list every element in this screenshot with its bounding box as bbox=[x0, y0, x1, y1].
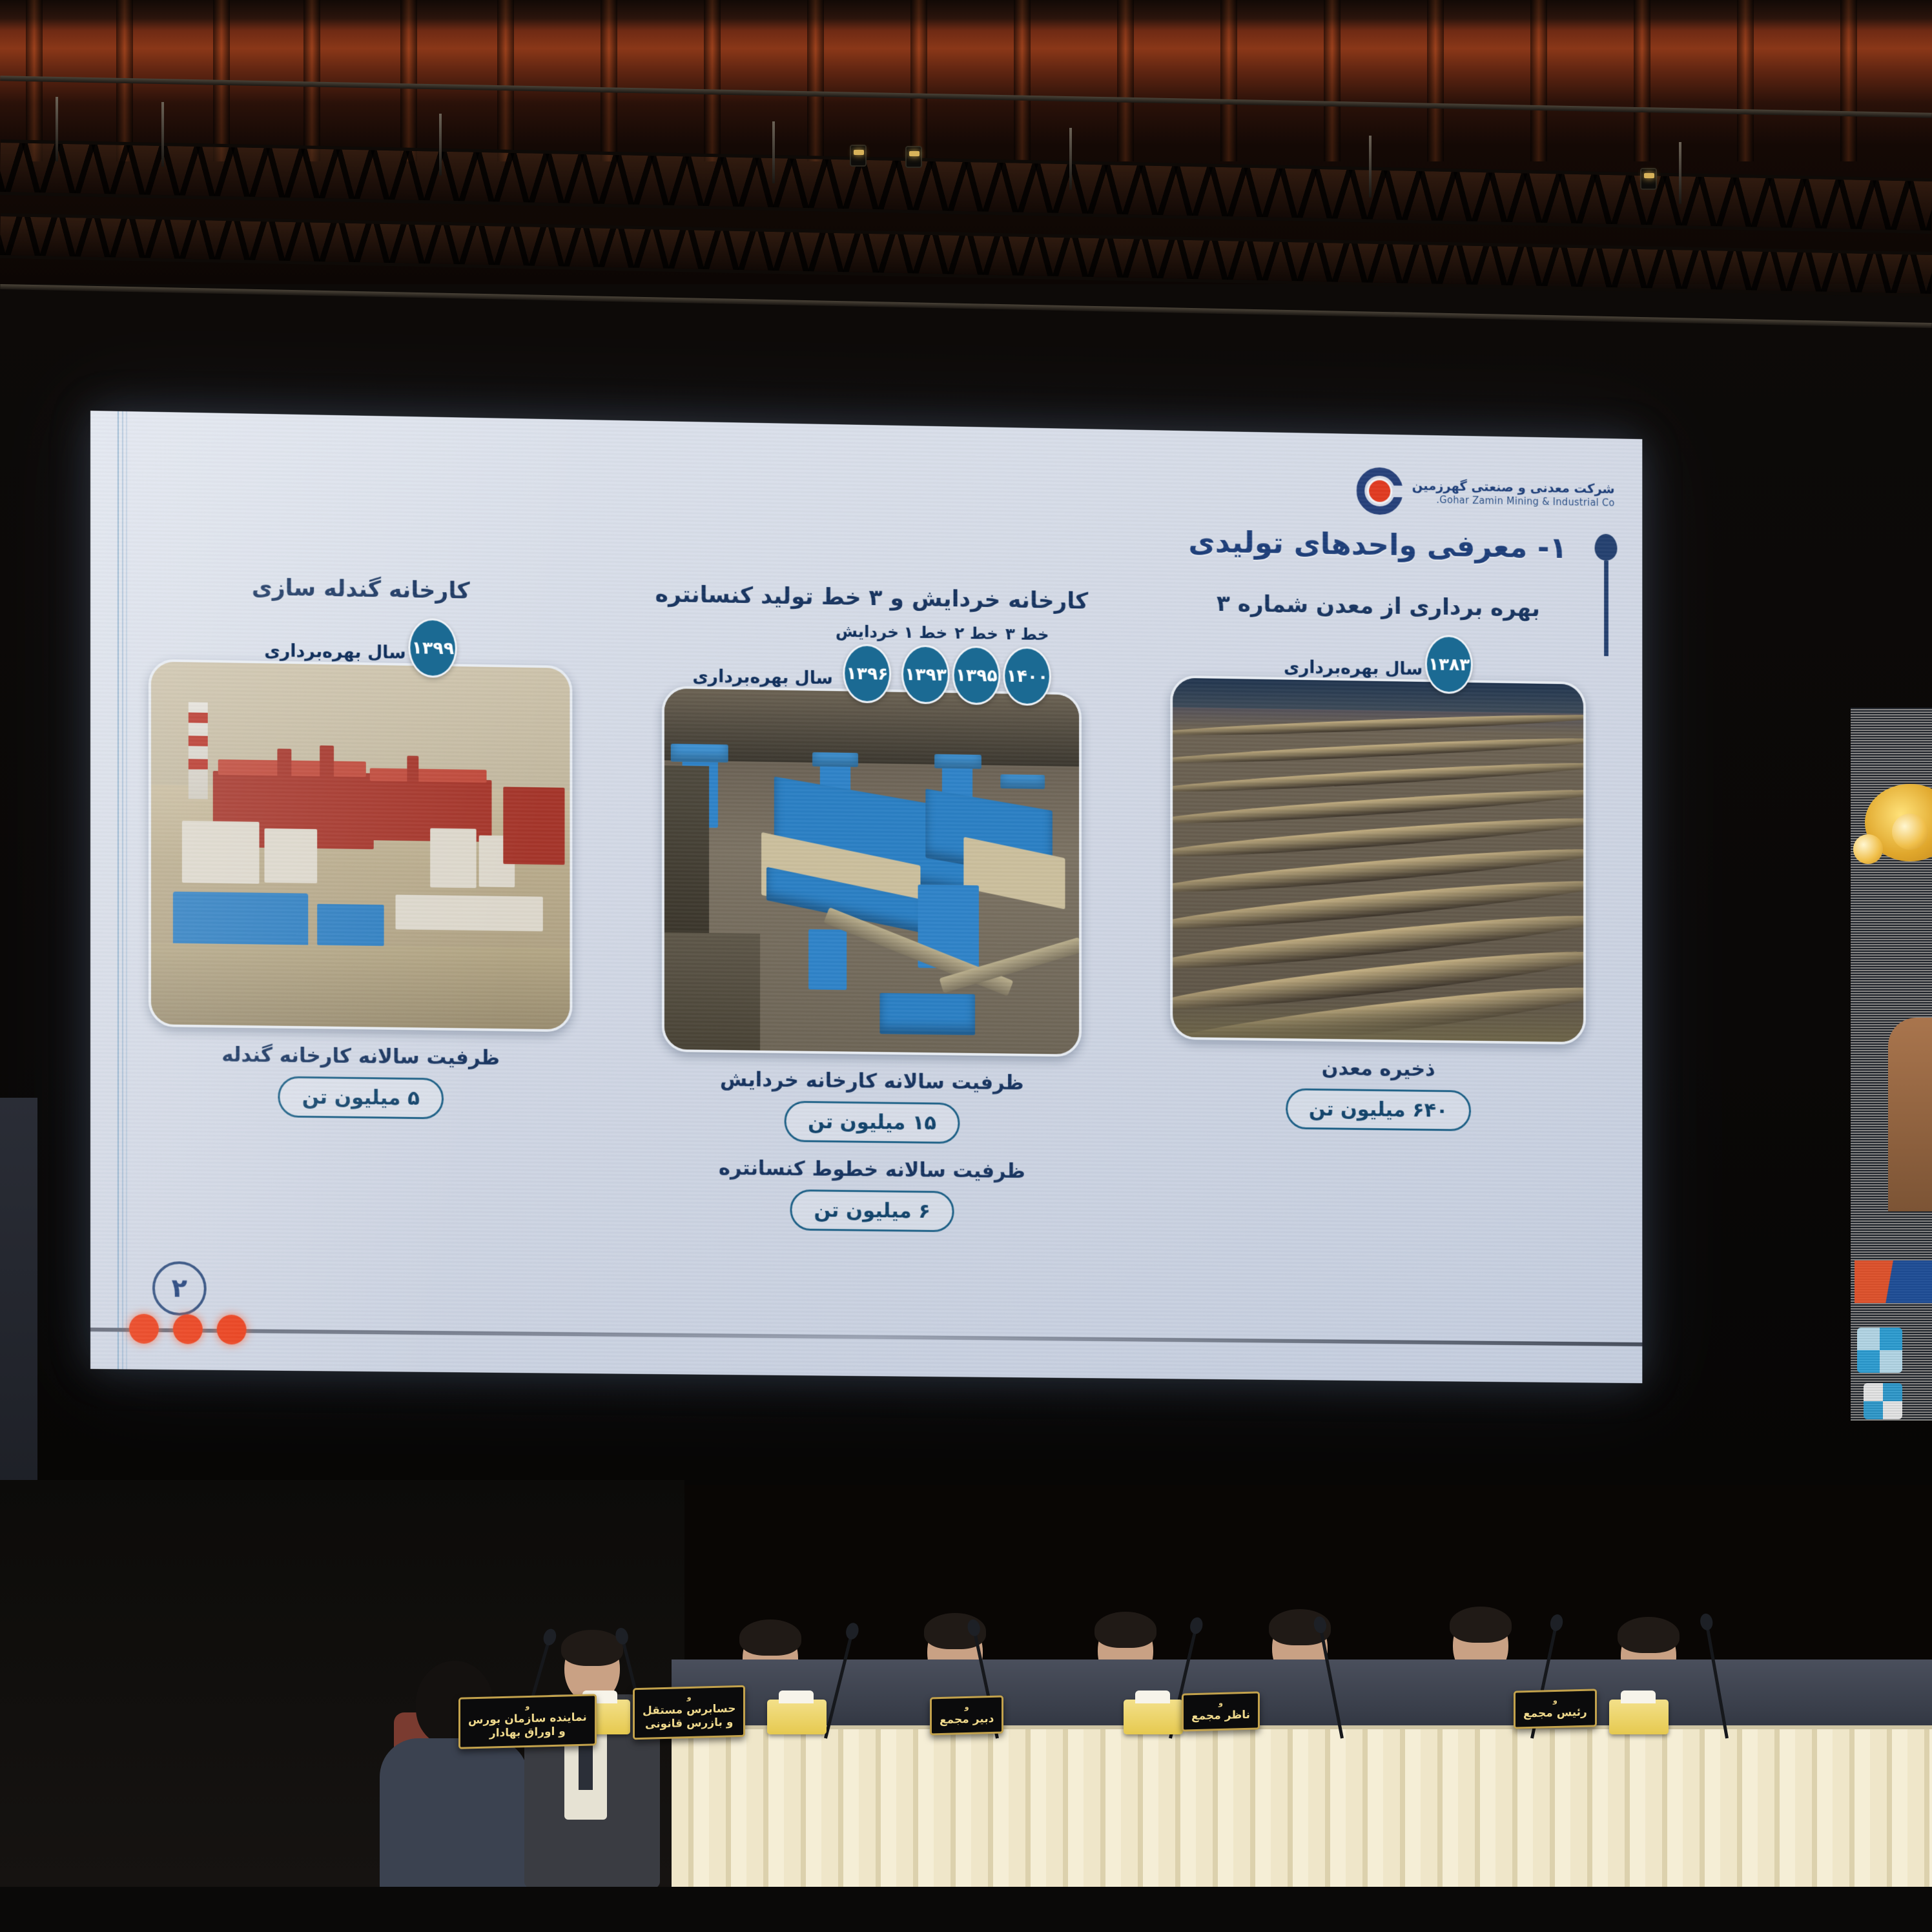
nameplate-observer: و ناظر مجمع bbox=[1182, 1691, 1260, 1731]
chandelier-globe bbox=[1892, 814, 1928, 850]
hanger-rod bbox=[161, 102, 164, 167]
led-screen-motif bbox=[1857, 1328, 1902, 1373]
stage-light bbox=[850, 145, 867, 167]
column-caption: ظرفیت سالانه کارخانه گندله bbox=[221, 1043, 500, 1070]
year-badge-row: سال بهره‌برداری ۱۳۸۳ bbox=[1284, 629, 1473, 694]
year-badge: ۱۳۹۶ bbox=[843, 644, 892, 704]
stage-scene: شرکت معدنی و صنعتی گهرزمین Gohar Zamin M… bbox=[0, 0, 1932, 1932]
nameplate-secretary: و دبیر مجمع bbox=[930, 1696, 1003, 1736]
year-side-label: سال بهره‌برداری bbox=[1284, 657, 1423, 679]
badge-label: خردایش bbox=[836, 622, 899, 641]
capacity-pill: ۶۴۰ میلیون تن bbox=[1286, 1088, 1472, 1131]
year-badge: ۱۳۸۳ bbox=[1425, 635, 1473, 694]
nameplate-auditor: و حسابرس مستقل و بازرس قانونی bbox=[633, 1685, 745, 1740]
badge-label: خط ۱ bbox=[904, 623, 948, 642]
stage-light bbox=[905, 146, 922, 168]
hanger-rod bbox=[1069, 128, 1072, 190]
logo-mark-icon bbox=[1357, 467, 1403, 515]
year-badge-row: سال بهره‌برداری خردایش ۱۳۹۶ خط ۱ ۱۳۹۳ خط… bbox=[692, 619, 1051, 706]
tissue-box bbox=[1124, 1700, 1183, 1734]
nameplate-text: ناظر مجمع bbox=[1191, 1709, 1250, 1723]
tissue-box bbox=[767, 1700, 827, 1734]
stage-floor bbox=[0, 1887, 1932, 1932]
year-badge-row: سال بهره‌برداری ۱۳۹۹ bbox=[264, 612, 457, 678]
slide-edge-accent-lines bbox=[118, 411, 129, 1370]
photo-pellet-plant bbox=[149, 659, 572, 1032]
secondary-led-screen bbox=[1851, 708, 1932, 1421]
slide-title-row: ۱- معرفی واحدهای تولیدی bbox=[1188, 524, 1567, 565]
year-badge: ۱۳۹۵ bbox=[952, 646, 1001, 705]
column-heading: کارخانه خردایش و ۳ خط تولید کنسانتره bbox=[655, 582, 1089, 615]
capacity-pill: ۱۵ میلیون تن bbox=[785, 1101, 960, 1144]
nameplate-crest-icon: و bbox=[1191, 1698, 1250, 1709]
hanger-rod bbox=[1369, 136, 1372, 198]
year-side-label: سال بهره‌برداری bbox=[264, 641, 406, 663]
column-caption: ذخیره معدن bbox=[1322, 1056, 1435, 1081]
nameplate-crest-icon: و bbox=[940, 1702, 994, 1712]
nameplate-text: حسابرس مستقل و بازرس قانونی bbox=[642, 1702, 735, 1731]
slide-columns: کارخانه گندله سازی سال بهره‌برداری ۱۳۹۹ bbox=[136, 573, 1598, 1342]
photo-open-pit-mine bbox=[1170, 675, 1586, 1045]
tissue-box bbox=[1609, 1700, 1669, 1734]
photo-crushing-plant bbox=[662, 686, 1082, 1057]
nameplate-chairman: و رئیس مجمع bbox=[1514, 1689, 1597, 1729]
column-extra-caption: ظرفیت سالانه خطوط کنسانتره bbox=[719, 1156, 1025, 1183]
hanger-rod bbox=[1679, 142, 1681, 204]
badge-label: خط ۳ bbox=[1005, 624, 1049, 644]
year-badge: ۱۳۹۳ bbox=[901, 644, 950, 704]
column-pellet-plant: کارخانه گندله سازی سال بهره‌برداری ۱۳۹۹ bbox=[136, 573, 585, 1332]
nameplate-text: نماینده سازمان بورس و اوراق بهادار bbox=[468, 1711, 587, 1740]
slide-page-number: ۲ bbox=[152, 1261, 207, 1316]
company-logo: شرکت معدنی و صنعتی گهرزمین Gohar Zamin M… bbox=[1357, 467, 1615, 519]
column-caption: ظرفیت سالانه کارخانه خردایش bbox=[720, 1068, 1024, 1094]
page-title: ۱- معرفی واحدهای تولیدی bbox=[1188, 524, 1567, 565]
column-mine-no-3: بهره برداری از معدن شماره ۳ سال بهره‌برد… bbox=[1158, 590, 1599, 1342]
year-badge: ۱۳۹۹ bbox=[409, 618, 457, 678]
stage-light bbox=[1640, 168, 1657, 190]
nameplate-crest-icon: و bbox=[642, 1692, 735, 1703]
panel-table-area: و نماینده سازمان بورس و اوراق بهادار و ح… bbox=[672, 1382, 1932, 1932]
column-heading: بهره برداری از معدن شماره ۳ bbox=[1217, 591, 1540, 622]
badge-label: خط ۲ bbox=[954, 624, 998, 643]
nameplate-crest-icon: و bbox=[1523, 1696, 1587, 1706]
hanger-rod bbox=[439, 114, 442, 176]
nameplate-text: دبیر مجمع bbox=[940, 1712, 994, 1727]
projection-screen: شرکت معدنی و صنعتی گهرزمین Gohar Zamin M… bbox=[90, 411, 1642, 1383]
footer-dots bbox=[129, 1314, 247, 1345]
nameplate-text: رئیس مجمع bbox=[1523, 1705, 1587, 1720]
year-badge: ۱۴۰۰ bbox=[1003, 646, 1051, 706]
hanger-rod bbox=[772, 121, 775, 183]
capacity-pill: ۵ میلیون تن bbox=[278, 1076, 444, 1119]
led-screen-figure bbox=[1888, 1018, 1932, 1211]
hanger-rod bbox=[56, 97, 58, 161]
column-heading: کارخانه گندله سازی bbox=[252, 575, 470, 604]
chandelier-globe bbox=[1853, 834, 1883, 864]
nameplate-bourse-rep: و نماینده سازمان بورس و اوراق بهادار bbox=[458, 1694, 597, 1749]
capacity-pill-secondary: ۶ میلیون تن bbox=[790, 1189, 954, 1232]
year-side-label: سال بهره‌برداری bbox=[692, 666, 833, 688]
column-crushing-concentrate: کارخانه خردایش و ۳ خط تولید کنسانتره سال… bbox=[649, 582, 1094, 1337]
led-screen-text-ornament bbox=[1855, 1260, 1932, 1303]
